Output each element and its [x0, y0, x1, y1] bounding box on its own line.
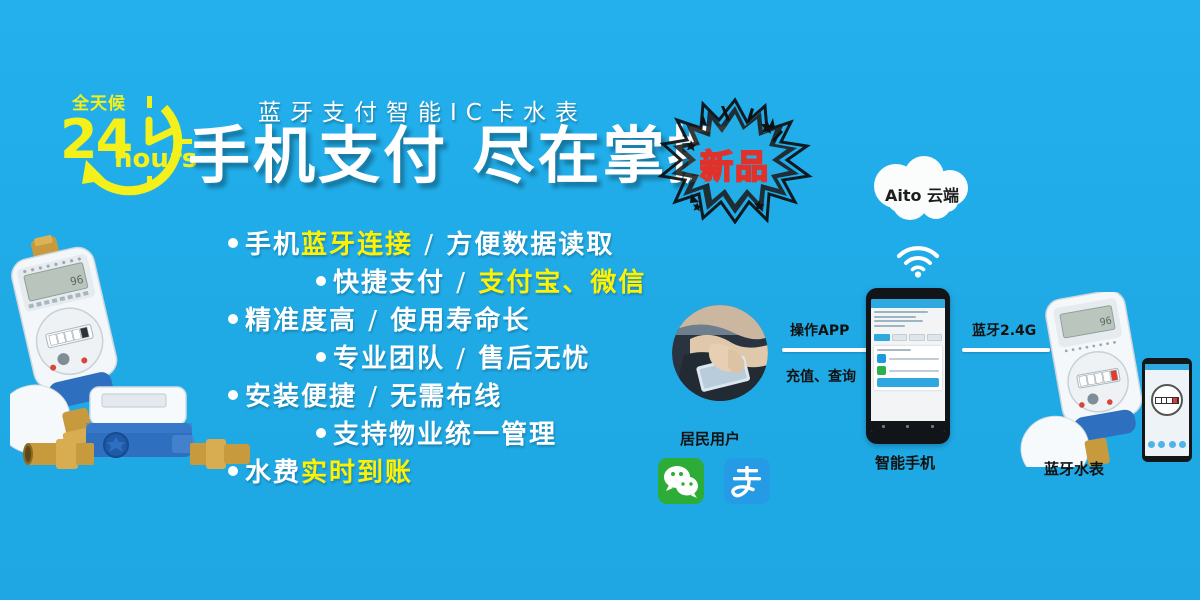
info-row: [874, 316, 916, 318]
feature-highlight: 支付宝、微信: [478, 268, 646, 298]
feature-pre: 快捷支付: [333, 268, 445, 298]
payment-method-dialog: [874, 346, 942, 390]
smartphone-icon: [866, 288, 950, 444]
cloud-node: Aito 云端: [862, 156, 982, 228]
feature-pre: 专业团队: [333, 344, 445, 374]
bullet-dot: [316, 352, 326, 362]
info-row: [874, 320, 923, 322]
new-product-label: 新品: [655, 140, 815, 188]
connector-label-recharge: 充值、查询: [786, 366, 856, 386]
new-product-badge: 新品: [655, 96, 815, 224]
option-label: [889, 370, 939, 372]
feature-post: 使用寿命长: [390, 306, 530, 336]
meter-app-phone: [1142, 358, 1192, 462]
recents-icon[interactable]: [931, 425, 934, 428]
list-item: 手机蓝牙连接 / 方便数据读取: [228, 232, 698, 258]
list-item: 水费实时到账: [228, 460, 698, 486]
toolbar-icon[interactable]: [1179, 441, 1186, 448]
meter-app-screen: [1145, 364, 1189, 456]
payment-option-wechat[interactable]: [877, 366, 939, 375]
feature-post: 无需布线: [390, 382, 502, 412]
home-icon[interactable]: [906, 425, 909, 428]
amount-chip[interactable]: [927, 334, 943, 341]
left-product-images: 96: [10, 225, 260, 525]
diagram-label-smartphone: 智能手机: [875, 452, 935, 473]
toolbar-icon[interactable]: [1148, 441, 1155, 448]
diagram-label-user: 居民用户: [680, 428, 740, 449]
feature-pre: 精准度高: [245, 306, 357, 336]
back-icon[interactable]: [882, 425, 885, 428]
dialog-title-line: [877, 349, 911, 351]
app-amount-chips[interactable]: [871, 332, 945, 343]
list-item: 支持物业统一管理: [228, 422, 698, 448]
feature-pre: 支持物业统一管理: [333, 420, 557, 450]
feature-pre: 安装便捷: [245, 382, 357, 412]
info-row: [874, 311, 928, 313]
connector-label-app: 操作APP: [790, 320, 849, 340]
app-info-block: [871, 308, 945, 332]
option-label: [889, 358, 939, 360]
toolbar-icon[interactable]: [1158, 441, 1165, 448]
hands-holding-phone-photo: [672, 305, 768, 401]
payment-app-icons: [658, 458, 770, 504]
feature-highlight: 蓝牙连接: [301, 230, 413, 260]
diagram-label-water-meter: 蓝牙水表: [1044, 458, 1104, 479]
list-item: 精准度高 / 使用寿命长: [228, 308, 698, 334]
payment-option-alipay[interactable]: [877, 354, 939, 363]
list-item: 专业团队 / 售后无忧: [228, 346, 698, 372]
alipay-icon: [877, 354, 886, 363]
amount-chip[interactable]: [909, 334, 925, 341]
feature-sep: /: [445, 268, 478, 298]
feature-post: 售后无忧: [478, 344, 590, 374]
toolbar-icon[interactable]: [1169, 441, 1176, 448]
svg-text:96: 96: [1099, 316, 1113, 329]
bullet-dot: [316, 428, 326, 438]
info-row: [874, 325, 905, 327]
feature-sep: /: [413, 230, 446, 260]
amount-chip-selected[interactable]: [874, 334, 890, 341]
meter-app-header: [1145, 364, 1189, 370]
badge-hours-text: hours: [114, 146, 197, 172]
cloud-label: Aito 云端: [862, 182, 982, 206]
bullet-dot: [316, 276, 326, 286]
confirm-pay-button[interactable]: [877, 378, 939, 387]
wechat-icon[interactable]: [658, 458, 704, 504]
feature-sep: /: [357, 306, 390, 336]
digit-red: [1173, 398, 1179, 403]
feature-sep: /: [357, 382, 390, 412]
android-navbar[interactable]: [871, 421, 945, 432]
wechat-icon: [877, 366, 886, 375]
meter-app-toolbar[interactable]: [1148, 441, 1186, 448]
meter-digits: [1155, 397, 1179, 404]
feature-post: 方便数据读取: [446, 230, 614, 260]
amount-chip[interactable]: [892, 334, 908, 341]
feature-highlight: 实时到账: [301, 458, 413, 488]
app-header-bar: [871, 299, 945, 308]
feature-sep: /: [445, 344, 478, 374]
feature-list: 手机蓝牙连接 / 方便数据读取 快捷支付 / 支付宝、微信 精准度高 / 使用寿…: [228, 232, 698, 498]
promo-banner: 全天候 24 hours 蓝牙支付智能IC卡水表 手机支付 尽在掌握: [0, 0, 1200, 600]
24-hours-badge: 全天候 24 hours: [52, 84, 194, 196]
wifi-icon: [895, 244, 941, 278]
phone-screen: [871, 299, 945, 432]
list-item: 快捷支付 / 支付宝、微信: [228, 270, 698, 296]
list-item: 安装便捷 / 无需布线: [228, 384, 698, 410]
banner-main-title: 手机支付 尽在掌握: [188, 123, 733, 188]
alipay-icon[interactable]: [724, 458, 770, 504]
